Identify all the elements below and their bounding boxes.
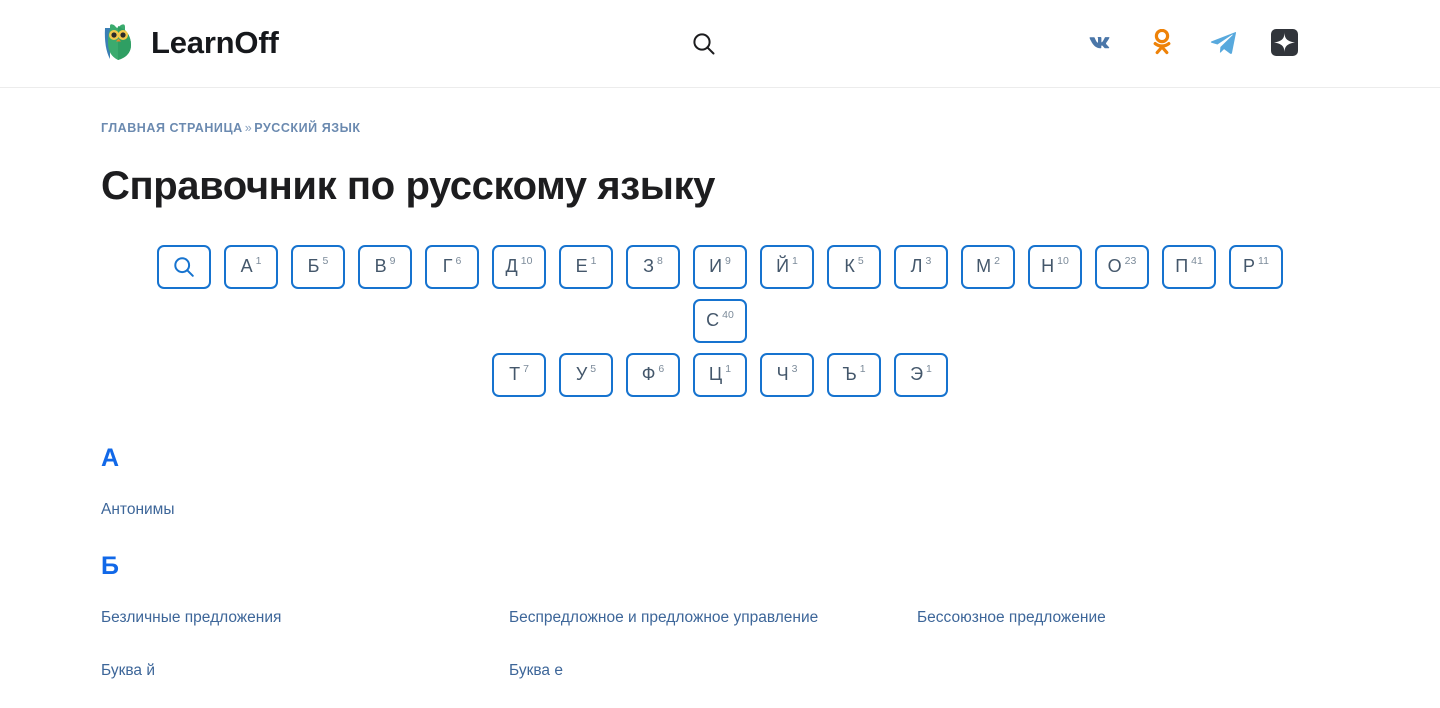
alphabet-button-Р[interactable]: Р11 — [1229, 245, 1283, 289]
alphabet-button-Н[interactable]: Н10 — [1028, 245, 1082, 289]
alphabet-button-count: 40 — [722, 310, 734, 321]
letter-section-Б: ББезличные предложенияБеспредложное и пр… — [101, 554, 1339, 680]
alphabet-button-letter: Р — [1243, 257, 1255, 275]
letter-section-links: Безличные предложенияБеспредложное и пре… — [101, 609, 1339, 680]
alphabet-button-Ъ[interactable]: Ъ1 — [827, 353, 881, 397]
social-links — [1085, 26, 1300, 58]
breadcrumb: ГЛАВНАЯ СТРАНИЦА»РУССКИЙ ЯЗЫК — [101, 121, 1339, 135]
alphabet-button-letter: У — [576, 365, 587, 383]
alphabet-button-count: 1 — [860, 364, 866, 375]
alphabet-button-count: 1 — [591, 256, 597, 267]
alphabet-button-count: 10 — [1057, 256, 1069, 267]
letter-section-heading: Б — [101, 554, 1339, 579]
alphabet-search-button[interactable] — [157, 245, 211, 289]
page-title: Справочник по русскому языку — [101, 164, 1339, 209]
alphabet-button-count: 6 — [455, 256, 461, 267]
alphabet-button-letter: Ц — [709, 365, 722, 383]
alphabet-button-Л[interactable]: Л3 — [894, 245, 948, 289]
alphabet-button-Д[interactable]: Д10 — [492, 245, 546, 289]
alphabet-button-count: 3 — [925, 256, 931, 267]
social-link-zen[interactable] — [1268, 26, 1300, 58]
main-content: ГЛАВНАЯ СТРАНИЦА»РУССКИЙ ЯЗЫК Справочник… — [0, 121, 1440, 681]
alphabet-button-count: 1 — [725, 364, 731, 375]
social-link-vk[interactable] — [1085, 26, 1117, 58]
alphabet-button-count: 5 — [858, 256, 864, 267]
breadcrumb-separator: » — [243, 121, 255, 135]
alphabet-button-Э[interactable]: Э1 — [894, 353, 948, 397]
entry-link[interactable]: Безличные предложения — [101, 609, 509, 628]
alphabet-button-letter: Ф — [642, 365, 656, 383]
entry-link[interactable]: Буква е — [509, 662, 917, 681]
letter-section-heading: А — [101, 446, 1339, 471]
alphabet-button-З[interactable]: З8 — [626, 245, 680, 289]
brand-logo-link[interactable]: LearnOff — [101, 22, 279, 62]
alphabet-button-count: 9 — [725, 256, 731, 267]
alphabet-button-letter: А — [241, 257, 253, 275]
alphabet-button-count: 6 — [658, 364, 664, 375]
letter-sections: ААнтонимыББезличные предложенияБеспредло… — [101, 446, 1339, 681]
alphabet-button-Ц[interactable]: Ц1 — [693, 353, 747, 397]
alphabet-button-count: 23 — [1125, 256, 1137, 267]
alphabet-button-count: 1 — [926, 364, 932, 375]
alphabet-button-В[interactable]: В9 — [358, 245, 412, 289]
alphabet-button-О[interactable]: О23 — [1095, 245, 1149, 289]
site-header: LearnOff — [0, 0, 1440, 88]
alphabet-button-count: 9 — [390, 256, 396, 267]
alphabet-button-count: 1 — [792, 256, 798, 267]
alphabet-button-letter: Д — [506, 257, 518, 275]
entry-link[interactable]: Антонимы — [101, 501, 509, 520]
alphabet-button-Б[interactable]: Б5 — [291, 245, 345, 289]
alphabet-button-letter: И — [709, 257, 722, 275]
alphabet-button-letter: Б — [308, 257, 320, 275]
alphabet-button-letter: С — [706, 311, 719, 329]
alphabet-button-letter: З — [643, 257, 654, 275]
alphabet-button-letter: П — [1175, 257, 1188, 275]
social-link-odnoklassniki[interactable] — [1146, 26, 1178, 58]
alphabet-button-М[interactable]: М2 — [961, 245, 1015, 289]
alphabet-button-К[interactable]: К5 — [827, 245, 881, 289]
alphabet-button-letter: Н — [1041, 257, 1054, 275]
alphabet-button-letter: Ъ — [842, 365, 856, 383]
entry-link[interactable]: Буква й — [101, 662, 509, 681]
alphabet-button-letter: Ч — [777, 365, 789, 383]
header-search-icon[interactable] — [688, 28, 720, 60]
alphabet-button-count: 11 — [1258, 256, 1269, 267]
alphabet-button-count: 3 — [792, 364, 798, 375]
alphabet-nav-row2: Т7У5Ф6Ц1Ч3Ъ1Э1 — [101, 353, 1339, 397]
alphabet-button-С[interactable]: С40 — [693, 299, 747, 343]
alphabet-button-count: 5 — [590, 364, 596, 375]
letter-section-links: Антонимы — [101, 501, 1339, 520]
alphabet-button-letter: Т — [509, 365, 520, 383]
alphabet-button-letter: Э — [910, 365, 923, 383]
alphabet-button-letter: В — [375, 257, 387, 275]
alphabet-button-count: 2 — [994, 256, 1000, 267]
alphabet-button-letter: К — [844, 257, 855, 275]
alphabet-button-Т[interactable]: Т7 — [492, 353, 546, 397]
alphabet-button-Ф[interactable]: Ф6 — [626, 353, 680, 397]
social-link-telegram[interactable] — [1207, 26, 1239, 58]
alphabet-button-А[interactable]: А1 — [224, 245, 278, 289]
alphabet-button-Й[interactable]: Й1 — [760, 245, 814, 289]
page-root: LearnOff — [0, 0, 1440, 708]
alphabet-button-letter: Й — [776, 257, 789, 275]
brand-name: LearnOff — [151, 27, 279, 58]
alphabet-button-count: 5 — [322, 256, 328, 267]
alphabet-button-count: 7 — [523, 364, 529, 375]
alphabet-button-count: 8 — [657, 256, 663, 267]
entry-link[interactable]: Беспредложное и предложное управление — [509, 609, 917, 628]
alphabet-button-Ч[interactable]: Ч3 — [760, 353, 814, 397]
breadcrumb-current[interactable]: РУССКИЙ ЯЗЫК — [254, 121, 360, 135]
alphabet-button-count: 10 — [521, 256, 533, 267]
alphabet-button-Г[interactable]: Г6 — [425, 245, 479, 289]
alphabet-button-Е[interactable]: Е1 — [559, 245, 613, 289]
alphabet-button-letter: М — [976, 257, 991, 275]
alphabet-button-count: 41 — [1191, 256, 1203, 267]
alphabet-nav: А1Б5В9Г6Д10Е1З8И9Й1К5Л3М2Н10О23П41Р11С40 — [101, 245, 1339, 343]
alphabet-button-П[interactable]: П41 — [1162, 245, 1216, 289]
alphabet-button-letter: О — [1108, 257, 1122, 275]
owl-logo-icon — [101, 22, 135, 62]
alphabet-button-letter: Г — [443, 257, 453, 275]
breadcrumb-home[interactable]: ГЛАВНАЯ СТРАНИЦА — [101, 121, 243, 135]
entry-link[interactable]: Бессоюзное предложение — [917, 609, 1325, 628]
alphabet-button-letter: Е — [576, 257, 588, 275]
letter-section-А: ААнтонимы — [101, 446, 1339, 520]
alphabet-button-letter: Л — [911, 257, 923, 275]
alphabet-button-И[interactable]: И9 — [693, 245, 747, 289]
alphabet-button-У[interactable]: У5 — [559, 353, 613, 397]
alphabet-button-count: 1 — [256, 256, 262, 267]
